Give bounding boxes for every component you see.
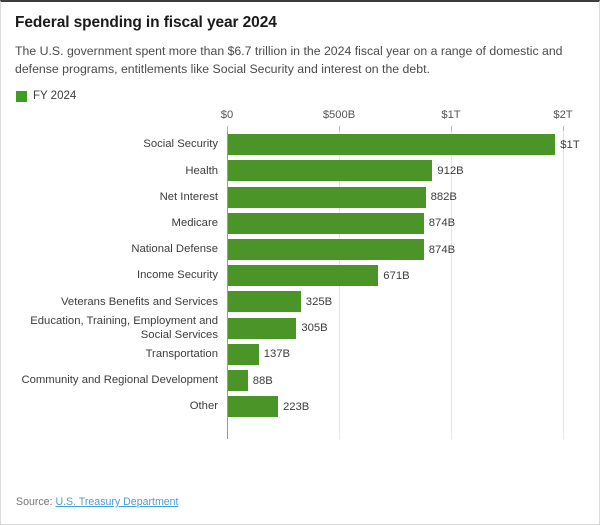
bar-and-value: 882B bbox=[228, 187, 457, 208]
bar-value-label: 912B bbox=[437, 165, 463, 177]
bar-row[interactable]: Health912B bbox=[15, 160, 587, 181]
bar[interactable] bbox=[228, 370, 248, 391]
source-link[interactable]: U.S. Treasury Department bbox=[55, 496, 178, 508]
bar-value-label: 874B bbox=[429, 217, 455, 229]
bar-value-label: $1T bbox=[560, 139, 579, 151]
bar-rows: Social Security$1THealth912BNet Interest… bbox=[15, 131, 587, 439]
bar[interactable] bbox=[228, 160, 432, 181]
bar[interactable] bbox=[228, 239, 424, 260]
bar[interactable] bbox=[228, 213, 424, 234]
chart-card: Federal spending in fiscal year 2024 The… bbox=[0, 0, 600, 525]
bar-row[interactable]: National Defense874B bbox=[15, 239, 587, 260]
x-axis-tick-label: $1T bbox=[441, 109, 460, 121]
bar-category-label: Education, Training, Employment and Soci… bbox=[15, 314, 225, 343]
bar-chart-plot: $0$500B$1T$2T Social Security$1THealth91… bbox=[15, 109, 587, 439]
bar-row[interactable]: Other223B bbox=[15, 396, 587, 417]
bar-row[interactable]: Community and Regional Development88B bbox=[15, 370, 587, 391]
bar[interactable] bbox=[228, 344, 259, 365]
bar[interactable] bbox=[228, 291, 301, 312]
bar-and-value: 137B bbox=[228, 344, 290, 365]
bar-row[interactable]: Net Interest882B bbox=[15, 187, 587, 208]
bar-row[interactable]: Education, Training, Employment and Soci… bbox=[15, 318, 587, 339]
bar-category-label: Veterans Benefits and Services bbox=[15, 295, 225, 309]
bar-category-label: Income Security bbox=[15, 268, 225, 282]
bar-and-value: 874B bbox=[228, 239, 455, 260]
bar-and-value: 325B bbox=[228, 291, 332, 312]
page-title: Federal spending in fiscal year 2024 bbox=[15, 14, 585, 33]
bar-row[interactable]: Income Security671B bbox=[15, 265, 587, 286]
bar-row[interactable]: Transportation137B bbox=[15, 344, 587, 365]
bar-category-label: Medicare bbox=[15, 216, 225, 230]
bar-value-label: 882B bbox=[431, 191, 457, 203]
bar-and-value: 88B bbox=[228, 370, 273, 391]
bar-value-label: 305B bbox=[301, 322, 327, 334]
chart-legend: FY 2024 bbox=[16, 89, 585, 103]
chart-subtitle: The U.S. government spent more than $6.7… bbox=[15, 42, 585, 80]
bar-and-value: 305B bbox=[228, 318, 328, 339]
chart-inner: Federal spending in fiscal year 2024 The… bbox=[1, 2, 599, 524]
bar-value-label: 88B bbox=[253, 375, 273, 387]
bar-and-value: 912B bbox=[228, 160, 464, 181]
bar-and-value: 671B bbox=[228, 265, 410, 286]
bar-category-label: Community and Regional Development bbox=[15, 373, 225, 387]
bar[interactable] bbox=[228, 265, 378, 286]
x-axis-tick-label: $0 bbox=[221, 109, 233, 121]
bar-category-label: Transportation bbox=[15, 347, 225, 361]
bar[interactable] bbox=[228, 396, 278, 417]
legend-swatch-icon bbox=[16, 91, 27, 102]
bar-and-value: $1T bbox=[228, 134, 580, 155]
x-axis-ticks: $0$500B$1T$2T bbox=[15, 109, 587, 131]
source-prefix: Source: bbox=[16, 496, 55, 508]
bar-value-label: 325B bbox=[306, 296, 332, 308]
x-axis-tick-label: $500B bbox=[323, 109, 355, 121]
bar-row[interactable]: Veterans Benefits and Services325B bbox=[15, 291, 587, 312]
bar-category-label: Other bbox=[15, 399, 225, 413]
bar-category-label: National Defense bbox=[15, 242, 225, 256]
bar[interactable] bbox=[228, 187, 426, 208]
bar-category-label: Social Security bbox=[15, 137, 225, 151]
bar-category-label: Health bbox=[15, 164, 225, 178]
bar-value-label: 874B bbox=[429, 244, 455, 256]
x-axis-tick-label: $2T bbox=[553, 109, 572, 121]
legend-item-label: FY 2024 bbox=[33, 90, 76, 102]
bar-and-value: 874B bbox=[228, 213, 455, 234]
bar-category-label: Net Interest bbox=[15, 190, 225, 204]
bar-value-label: 671B bbox=[383, 270, 409, 282]
bar-row[interactable]: Social Security$1T bbox=[15, 134, 587, 155]
bar-row[interactable]: Medicare874B bbox=[15, 213, 587, 234]
bar-and-value: 223B bbox=[228, 396, 309, 417]
bar-value-label: 137B bbox=[264, 348, 290, 360]
bar[interactable] bbox=[228, 318, 296, 339]
source-note: Source: U.S. Treasury Department bbox=[16, 496, 179, 508]
bar[interactable] bbox=[228, 134, 555, 155]
bar-value-label: 223B bbox=[283, 401, 309, 413]
